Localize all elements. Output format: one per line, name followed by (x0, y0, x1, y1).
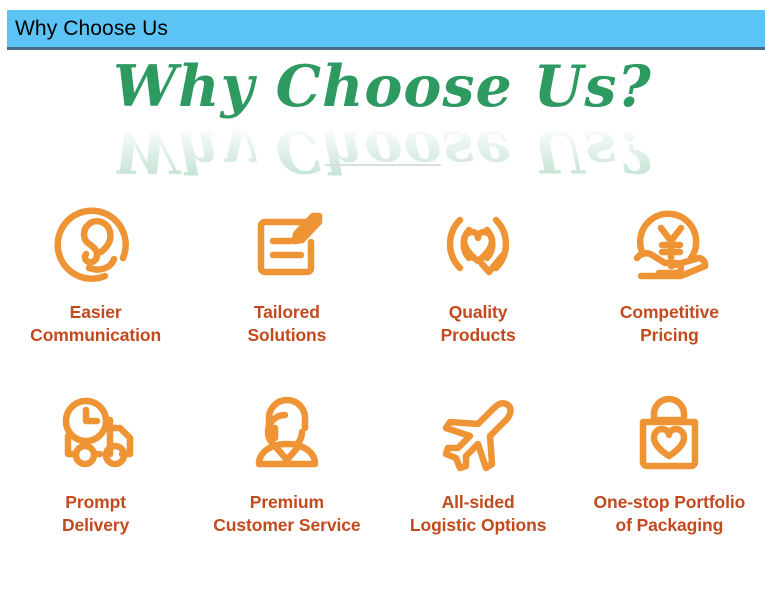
headset-agent-icon (239, 379, 335, 489)
shopping-bag-heart-icon (621, 379, 717, 489)
feature-label: Quality Products (441, 301, 516, 347)
feature-label: Tailored Solutions (247, 301, 326, 347)
feature-item-one-stop-portfolio-of-packaging[interactable]: One-stop Portfolio of Packaging (574, 371, 765, 561)
feature-item-all-sided-logistic-options[interactable]: All-sided Logistic Options (383, 371, 574, 561)
feature-label: One-stop Portfolio of Packaging (593, 491, 745, 537)
feature-item-easier-communication[interactable]: Easier Communication (0, 181, 191, 371)
feature-grid: Easier Communication Tailored Solutions (0, 181, 765, 561)
feature-label: All-sided Logistic Options (410, 491, 546, 537)
feature-item-quality-products[interactable]: Quality Products (383, 181, 574, 371)
window-header-bar: Why Choose Us (7, 10, 765, 50)
feature-label: Competitive Pricing (620, 301, 719, 347)
ear-in-circle-icon (48, 189, 144, 299)
document-pencil-icon (239, 189, 335, 299)
feature-label: Premium Customer Service (213, 491, 360, 537)
feature-item-prompt-delivery[interactable]: Prompt Delivery (0, 371, 191, 561)
airplane-icon (430, 379, 526, 489)
feature-label: Prompt Delivery (62, 491, 129, 537)
feature-item-competitive-pricing[interactable]: Competitive Pricing (574, 181, 765, 371)
feature-item-tailored-solutions[interactable]: Tailored Solutions (191, 181, 382, 371)
hand-holding-yen-coin-icon (621, 189, 717, 299)
feature-item-premium-customer-service[interactable]: Premium Customer Service (191, 371, 382, 561)
page-title: Why Choose Us (7, 17, 168, 41)
hero-divider (325, 164, 441, 166)
hero-title-reflection: Why Choose Us? (0, 119, 765, 183)
delivery-truck-clock-icon (48, 379, 144, 489)
hero-banner: Why Choose Us? Why Choose Us? (0, 53, 765, 165)
feature-label: Easier Communication (30, 301, 161, 347)
heart-check-signal-icon (430, 189, 526, 299)
hero-title: Why Choose Us? (0, 55, 765, 119)
page-content: Why Choose Us? Why Choose Us? Easier Com… (0, 53, 765, 599)
